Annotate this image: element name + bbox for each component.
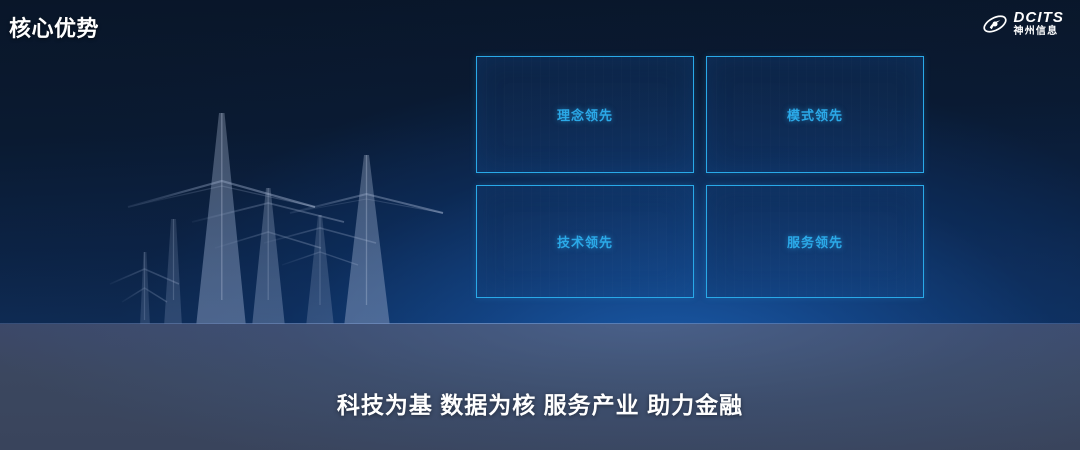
- advantage-card-concept[interactable]: 理念领先: [476, 56, 694, 173]
- logo-chinese: 神州信息: [1014, 27, 1065, 37]
- advantage-card-label: 模式领先: [787, 105, 843, 124]
- advantage-card-label: 服务领先: [787, 232, 843, 251]
- advantage-card-service[interactable]: 服务领先: [706, 185, 924, 298]
- logo-text-group: DCITS 神州信息: [1014, 10, 1065, 37]
- dcits-swirl-icon: [982, 11, 1008, 37]
- advantage-card-model[interactable]: 模式领先: [706, 56, 924, 173]
- brand-logo: DCITS 神州信息: [982, 10, 1065, 37]
- advantage-card-label: 理念领先: [557, 105, 613, 124]
- logo-english: DCITS: [1014, 10, 1065, 25]
- advantage-card-grid: 理念领先 模式领先 技术领先 服务领先: [476, 56, 924, 298]
- slide-root: 核心优势 DCITS 神州信息 理念领先 模式领先 技术领先 服务领先 科技为基…: [0, 0, 1080, 450]
- advantage-card-label: 技术领先: [557, 232, 613, 251]
- footer-tagline: 科技为基 数据为核 服务产业 助力金融: [0, 386, 1080, 420]
- page-title: 核心优势: [9, 11, 99, 43]
- advantage-card-technology[interactable]: 技术领先: [476, 185, 694, 298]
